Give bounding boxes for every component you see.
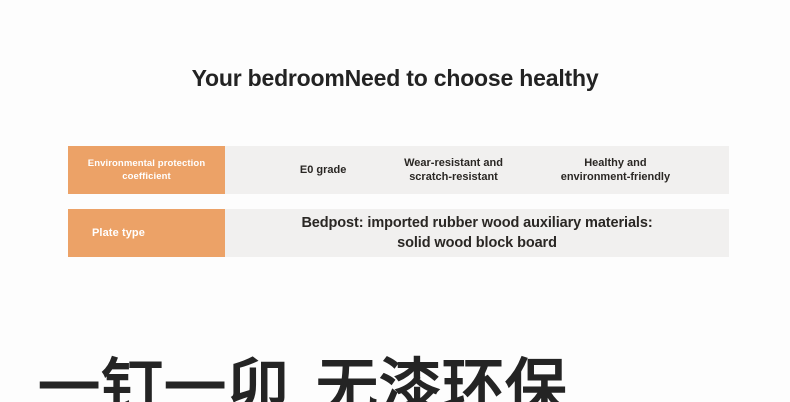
table-row: Environmental protection coefficient E0 … [68, 146, 729, 194]
spec-table: Environmental protection coefficient E0 … [68, 146, 729, 272]
table-row: Plate type Bedpost: imported rubber wood… [68, 209, 729, 257]
page-root: Your bedroomNeed to choose healthy Envir… [0, 0, 790, 402]
spec-cell-healthy-environment-friendly: Healthy and environment-friendly [561, 156, 670, 184]
promo-headline-cn-part-two: 无漆环保 [316, 351, 568, 402]
page-title: Your bedroomNeed to choose healthy [0, 62, 790, 94]
spec-cell-bedpost-materials: Bedpost: imported rubber wood auxiliary … [301, 213, 652, 253]
spec-label-environmental-protection-coefficient: Environmental protection coefficient [68, 146, 225, 194]
spec-content-environmental: E0 grade Wear-resistant and scratch-resi… [225, 146, 729, 194]
promo-headline-cn: 一钉一卯无漆环保 [38, 352, 568, 402]
spec-cell-e0-grade: E0 grade [300, 163, 346, 177]
spec-content-plate-type: Bedpost: imported rubber wood auxiliary … [225, 209, 729, 257]
spec-label-plate-type: Plate type [68, 209, 225, 257]
spec-cell-wear-resistant: Wear-resistant and scratch-resistant [404, 156, 503, 184]
page-title-part-one: Your bedroom [192, 65, 345, 91]
page-title-part-two: Need to choose healthy [345, 65, 599, 91]
promo-headline-cn-part-one: 一钉一卯 [38, 351, 290, 402]
